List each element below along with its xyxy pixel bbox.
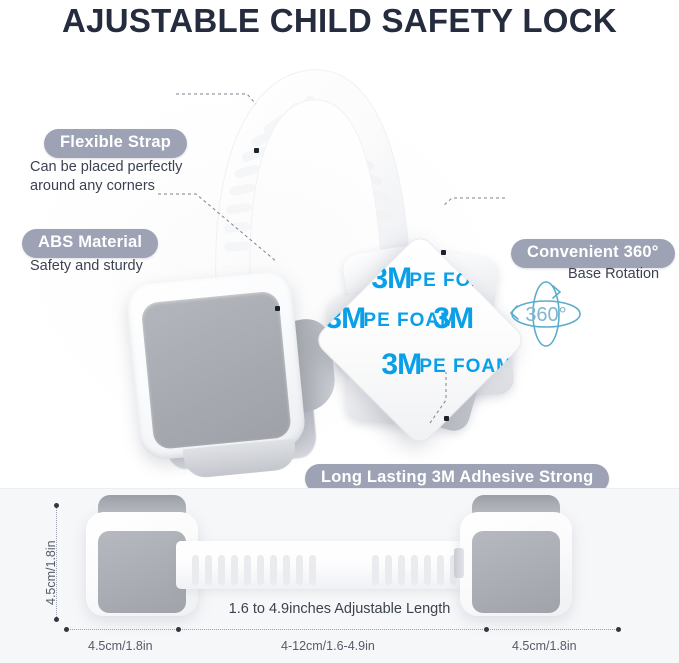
width-tick-2 <box>484 627 489 632</box>
infographic-root: AJUSTABLE CHILD SAFETY LOCK <box>0 0 679 662</box>
description-abs-material: Safety and sturdy <box>30 257 143 276</box>
leader-endpoint-360 <box>441 250 446 255</box>
width-tick-3 <box>616 627 621 632</box>
badge-abs-material[interactable]: ABS Material <box>22 229 158 258</box>
leader-endpoint-abs <box>275 306 280 311</box>
segment-label-middle: 4-12cm/1.6-4.9in <box>281 639 375 653</box>
badge-3m-adhesive[interactable]: Long Lasting 3M Adhesive Strong <box>305 464 609 488</box>
page-title: AJUSTABLE CHILD SAFETY LOCK <box>0 2 679 40</box>
width-tick-0 <box>64 627 69 632</box>
rotation-360-label: 360° <box>525 304 566 326</box>
width-tick-1 <box>176 627 181 632</box>
leader-endpoint-strap <box>254 148 259 153</box>
dimension-panel: 1.6 to 4.9inches Adjustable Length 4.5cm… <box>0 488 679 663</box>
height-tick-top <box>54 503 59 508</box>
badge-flexible-strap[interactable]: Flexible Strap <box>44 129 187 158</box>
width-dimension-line <box>66 629 619 630</box>
description-convenient-360: Base Rotation <box>568 265 659 284</box>
segment-label-left: 4.5cm/1.8in <box>88 639 153 653</box>
hero-scene: 3M PE FOAM 3M PE FOAM 3M 3M PE FOAM 3M <box>0 48 679 488</box>
adjustable-length-note: 1.6 to 4.9inches Adjustable Length <box>0 601 679 617</box>
rotation-360-icon: 360° <box>500 278 592 350</box>
description-flexible-strap: Can be placed perfectly around any corne… <box>30 158 182 196</box>
height-tick-bottom <box>54 617 59 622</box>
leader-endpoint-3m <box>444 416 449 421</box>
strap-teeth-left <box>192 555 316 585</box>
dim-strap-band <box>176 541 488 589</box>
height-dimension-label: 4.5cm/1.8in <box>44 540 58 605</box>
segment-label-right: 4.5cm/1.8in <box>512 639 577 653</box>
badge-convenient-360[interactable]: Convenient 360° <box>511 239 675 268</box>
